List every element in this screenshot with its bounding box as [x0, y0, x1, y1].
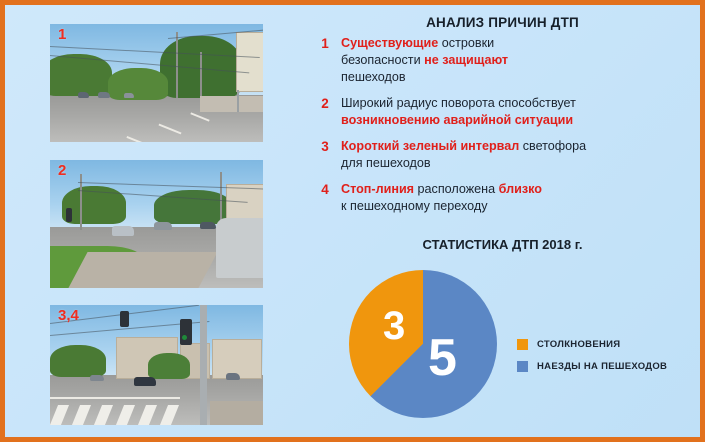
- legend-label: СТОЛКНОВЕНИЯ: [537, 339, 620, 350]
- legend-item-collisions: СТОЛКНОВЕНИЯ: [517, 339, 667, 350]
- cause-text: безопасности: [341, 53, 424, 67]
- cause-line-1: Существующие островки: [341, 35, 697, 52]
- infographic-slide: 1 2: [0, 0, 705, 442]
- cause-highlight: Существующие: [341, 36, 438, 50]
- analysis-title: АНАЛИЗ ПРИЧИН ДТП: [305, 15, 700, 30]
- photo-intersection-island: 1: [50, 24, 263, 142]
- photo2-scene: [50, 160, 263, 288]
- legend-label: НАЕЗДЫ НА ПЕШЕХОДОВ: [537, 361, 667, 372]
- photo-label: 3,4: [58, 308, 79, 323]
- cause-line-1: Короткий зеленый интервал светофора: [341, 138, 697, 155]
- cause-number: 4: [317, 181, 333, 198]
- photo-wide-turn-radius: 2: [50, 160, 263, 288]
- cause-highlight: не защищают: [424, 53, 508, 67]
- stats-title: СТАТИСТИКА ДТП 2018 г.: [305, 237, 700, 252]
- cause-item-4: 4 Стоп-линия расположена близко к пешехо…: [317, 181, 697, 215]
- cause-line-3: пешеходов: [341, 69, 697, 86]
- cause-highlight: Стоп-линия: [341, 182, 414, 196]
- pie-slice-value-collisions: 3: [383, 306, 405, 346]
- cause-list: 1 Существующие островки безопасности не …: [317, 35, 697, 224]
- photo1-scene: [50, 24, 263, 142]
- legend-item-pedestrians: НАЕЗДЫ НА ПЕШЕХОДОВ: [517, 361, 667, 372]
- cause-line-2: к пешеходному переходу: [341, 198, 697, 215]
- photo-label: 2: [58, 163, 66, 178]
- cause-highlight: близко: [499, 182, 542, 196]
- pie-slice-value-pedestrians: 5: [428, 332, 457, 384]
- cause-line-1: Стоп-линия расположена близко: [341, 181, 697, 198]
- cause-item-1: 1 Существующие островки безопасности не …: [317, 35, 697, 86]
- legend-swatch-icon: [517, 361, 528, 372]
- photo-label: 1: [58, 27, 66, 42]
- cause-line-2: для пешеходов: [341, 155, 697, 172]
- legend-swatch-icon: [517, 339, 528, 350]
- cause-number: 2: [317, 95, 333, 112]
- cause-item-2: 2 Широкий радиус поворота способствует в…: [317, 95, 697, 129]
- photo3-scene: [50, 305, 263, 425]
- pie-chart: 3 5: [349, 270, 497, 418]
- cause-line-1: Широкий радиус поворота способствует: [341, 95, 697, 112]
- cause-text: островки: [438, 36, 494, 50]
- cause-item-3: 3 Короткий зеленый интервал светофора дл…: [317, 138, 697, 172]
- cause-number: 1: [317, 35, 333, 52]
- photo-crosswalk-traffic-light: 3,4: [50, 305, 263, 425]
- cause-line-2: возникновению аварийной ситуации: [341, 112, 697, 129]
- pie-circle: [349, 270, 497, 418]
- cause-highlight: Короткий зеленый интервал: [341, 139, 519, 153]
- cause-number: 3: [317, 138, 333, 155]
- cause-text: расположена: [414, 182, 499, 196]
- cause-line-2: безопасности не защищают: [341, 52, 697, 69]
- chart-legend: СТОЛКНОВЕНИЯ НАЕЗДЫ НА ПЕШЕХОДОВ: [517, 339, 667, 383]
- cause-text: светофора: [519, 139, 586, 153]
